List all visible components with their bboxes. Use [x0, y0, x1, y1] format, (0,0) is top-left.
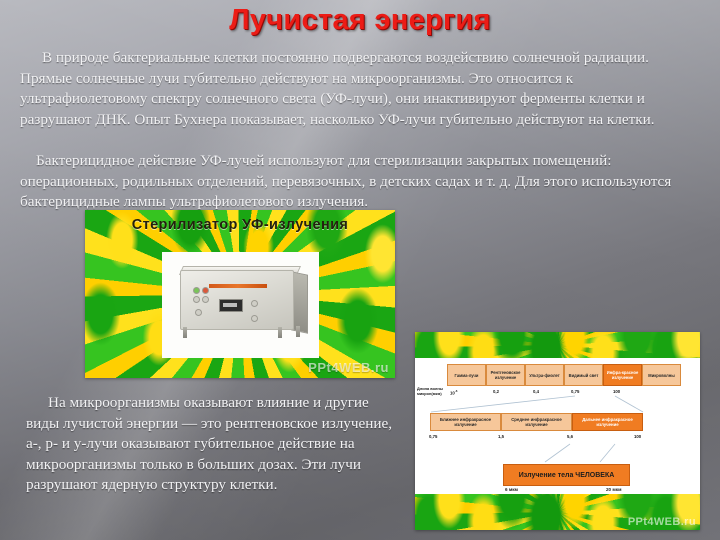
device-knob-4	[251, 300, 258, 307]
device-label-strip	[209, 284, 267, 288]
device-knob-1	[193, 296, 200, 303]
scale-tick-1: 0,2	[493, 389, 499, 394]
scale-tick-3: 0,75	[571, 389, 579, 394]
ir-tick-0: 0,75	[429, 434, 437, 439]
device-indicator-red	[202, 287, 209, 294]
paragraph-bottom: На микроорганизмы оказывают влияние и др…	[26, 393, 398, 496]
scale-tick-4: 100	[613, 389, 620, 394]
device-leg-left	[183, 327, 187, 338]
scale-tick-0: 10-6	[450, 389, 457, 395]
sterilizer-device-illustration	[174, 264, 306, 342]
spectrum-cell-uv: Ультра-фиолет	[525, 364, 564, 386]
slide: Лучистая энергия В природе бактериальные…	[0, 0, 720, 540]
spectrum-bottom-border: PPt4WEB.ru	[415, 494, 700, 530]
spectrum-band-row: Гамма-лучи Рентгеновское излучение Ультр…	[447, 364, 681, 386]
ir-tick-1: 1,5	[498, 434, 504, 439]
ir-tick-2: 5,6	[567, 434, 573, 439]
device-leg-right	[278, 327, 282, 338]
page-title: Лучистая энергия	[0, 4, 720, 37]
spectrum-top-border	[415, 332, 700, 358]
human-tick-right: 20 мкм	[606, 487, 621, 492]
image-sterilizer: Стерилизатор УФ-излучения	[85, 210, 395, 378]
spectrum-cell-visible: Видимый свет	[564, 364, 603, 386]
infrared-cell-far: Дальнее инфракрасное излучение	[572, 413, 643, 431]
device-indicator-green	[193, 287, 200, 294]
device-display-panel	[219, 299, 243, 312]
device-knob-2	[202, 296, 209, 303]
device-knob-3	[195, 309, 202, 316]
human-radiation-box: Излучение тела ЧЕЛОВЕКА	[503, 464, 630, 486]
device-leg-back	[296, 326, 300, 337]
wavelength-axis-label: Длина волны микрон(мкм)	[417, 387, 450, 396]
spectrum-sheet: Гамма-лучи Рентгеновское излучение Ультр…	[415, 358, 700, 494]
spectrum-cell-microwave: Микроволны	[642, 364, 681, 386]
image-sterilizer-caption: Стерилизатор УФ-излучения	[85, 217, 395, 233]
device-knob-5	[251, 315, 258, 322]
sterilizer-photo-plate	[162, 252, 319, 358]
paragraph-middle: Бактерицидное действие УФ-лучей использу…	[20, 151, 702, 213]
infrared-cell-near: Ближнее инфракрасное излучение	[430, 413, 501, 431]
spectrum-cell-xray: Рентгеновское излучение	[486, 364, 525, 386]
paragraph-top: В природе бактериальные клетки постоянно…	[20, 48, 702, 130]
image-spectrum-diagram: PPt4WEB.ru Гамма-лучи Рентгеновское излу…	[415, 332, 700, 530]
watermark: PPt4WEB.ru	[628, 516, 696, 528]
device-body	[180, 270, 294, 330]
infrared-cell-mid: Среднее инфракрасное излучение	[501, 413, 572, 431]
human-tick-left: 6 мкм	[505, 487, 518, 492]
spectrum-cell-infrared: Инфра-красное излучение	[603, 364, 642, 386]
ir-tick-3: 100	[634, 434, 641, 439]
infrared-band-row: Ближнее инфракрасное излучение Среднее и…	[430, 413, 643, 431]
watermark: PPt4WEB.ru	[308, 360, 389, 375]
spectrum-cell-gamma: Гамма-лучи	[447, 364, 486, 386]
scale-tick-2: 0,4	[533, 389, 539, 394]
